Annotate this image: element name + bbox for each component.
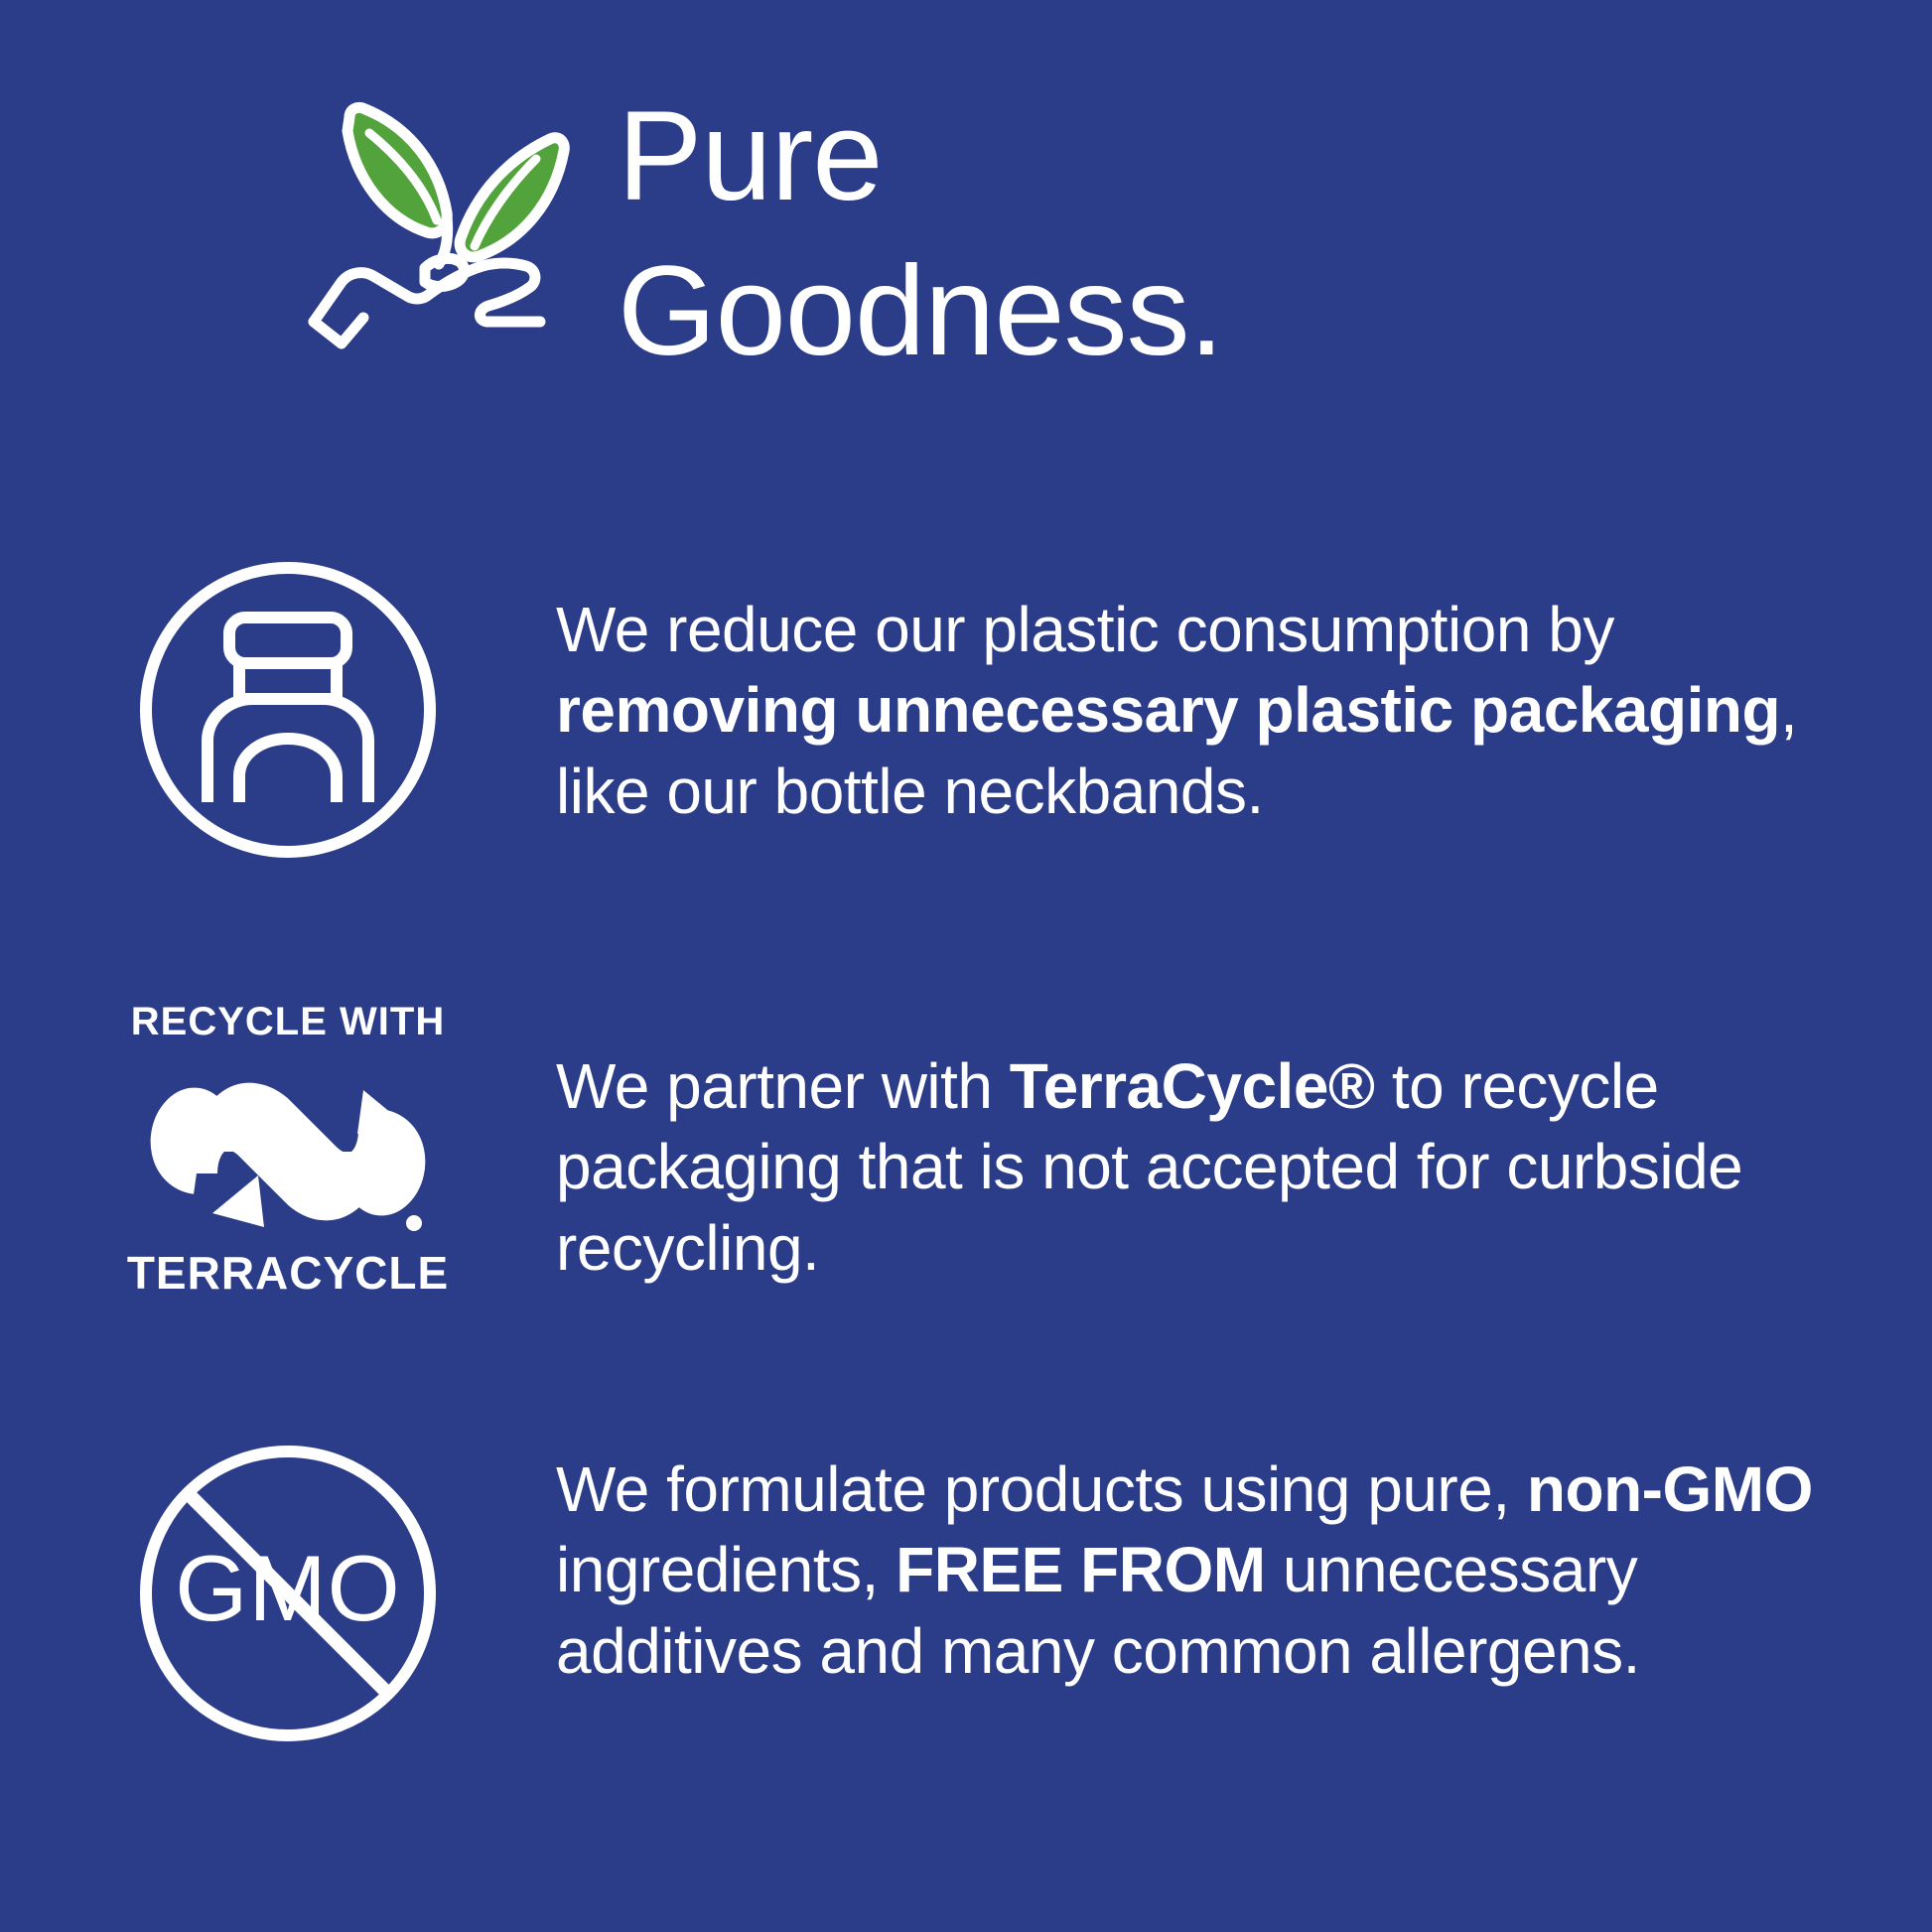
- text-segment-bold: TerraCycle®: [1010, 1050, 1375, 1122]
- text-segment: We partner with: [556, 1050, 1010, 1122]
- terracycle-logo-icon: RECYCLE WITH: [129, 1003, 447, 1301]
- text-segment-bold: removing unnecessary plastic packaging: [556, 674, 1780, 746]
- promo-panel: Pure Goodness. We reduce our plastic c: [0, 0, 1932, 1932]
- feature-icon-cell: RECYCLE WITH: [0, 1003, 556, 1301]
- text-segment-bold: non-GMO: [1527, 1453, 1813, 1525]
- header: Pure Goodness.: [0, 79, 1932, 367]
- gmo-label: GMO: [175, 1536, 401, 1640]
- terracycle-top-label: RECYCLE WITH: [131, 1000, 445, 1043]
- feature-text-non-gmo: We formulate products using pure, non-GM…: [556, 1440, 1932, 1692]
- terracycle-bottom-label: TERRACYCLE: [127, 1247, 449, 1299]
- feature-text-plastic-reduction: We reduce our plastic consumption by rem…: [556, 556, 1932, 832]
- page-title: Pure Goodness.: [618, 79, 1223, 389]
- text-segment: ingredients,: [556, 1534, 896, 1605]
- hand-holding-plant-icon: [298, 87, 596, 345]
- feature-icon-cell: [0, 556, 556, 864]
- bottle-neckband-icon: [134, 556, 442, 864]
- text-segment: We reduce our plastic consumption by: [556, 594, 1614, 665]
- feature-row-plastic-reduction: We reduce our plastic consumption by rem…: [0, 556, 1932, 864]
- no-gmo-icon: GMO: [134, 1440, 442, 1747]
- text-segment-bold: FREE FROM: [896, 1534, 1265, 1605]
- feature-row-terracycle: RECYCLE WITH: [0, 1003, 1932, 1301]
- feature-icon-cell: GMO: [0, 1440, 556, 1747]
- text-segment: We formulate products using pure,: [556, 1453, 1527, 1525]
- feature-text-terracycle: We partner with TerraCycle® to recycle p…: [556, 1003, 1932, 1289]
- feature-row-non-gmo: GMO We formulate products using pure, no…: [0, 1440, 1932, 1747]
